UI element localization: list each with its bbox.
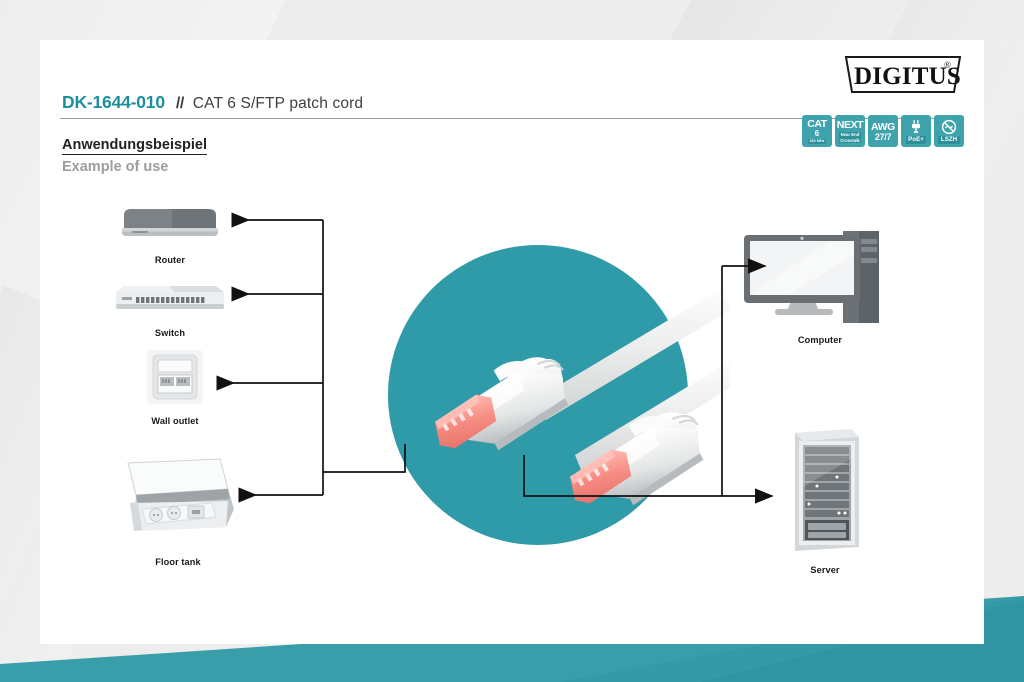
cat6-badge-main: CAT — [807, 119, 827, 130]
title-separator: // — [176, 95, 184, 113]
plug-icon — [908, 119, 924, 135]
no-smoke-icon — [941, 119, 957, 135]
cat6-badge-sub: 6 — [815, 130, 819, 138]
section-heading-de: Anwendungsbeispiel — [62, 138, 207, 155]
cat6-badge-frequency: 250 MHz — [808, 139, 826, 144]
awg-badge-main: AWG — [871, 122, 895, 133]
screenshot-root: DIGITUS ® DK-1644-010 // CAT 6 S/FTP pat… — [0, 0, 1024, 682]
patch-cord-image — [370, 230, 730, 560]
cat6-badge: CAT 6 250 MHz — [802, 115, 832, 147]
digitus-logo: DIGITUS ® — [844, 54, 962, 95]
lszh-badge-label: LSZH — [938, 136, 959, 144]
next-badge-main: NEXT — [837, 120, 863, 131]
wall-outlet-label: Wall outlet — [120, 416, 230, 426]
awg-badge: AWG 27/7 — [868, 115, 898, 147]
computer-label: Computer — [740, 335, 900, 345]
product-name: CAT 6 S/FTP patch cord — [193, 95, 363, 113]
lszh-badge: LSZH — [934, 115, 964, 147]
awg-badge-value: 27/7 — [875, 133, 891, 142]
device-floor-tank: Floor tank — [108, 455, 248, 567]
poe-badge-label: PoE+ — [906, 136, 927, 144]
floor-tank-icon — [108, 455, 248, 547]
poe-badge: PoE+ — [901, 115, 931, 147]
router-icon — [110, 205, 230, 245]
router-label: Router — [110, 255, 230, 265]
server-label: Server — [765, 565, 885, 575]
device-computer: Computer — [740, 225, 900, 345]
device-router: Router — [110, 205, 230, 265]
next-badge-line2: Crosstalk — [840, 138, 860, 143]
switch-label: Switch — [110, 328, 230, 338]
next-badge: NEXT Near End Crosstalk — [835, 115, 865, 147]
feature-badges: CAT 6 250 MHz NEXT Near End Crosstalk AW… — [802, 115, 964, 147]
server-icon — [765, 425, 885, 555]
floor-tank-label: Floor tank — [108, 557, 248, 567]
product-sku: DK-1644-010 — [62, 92, 165, 113]
next-badge-desc: Near End Crosstalk — [839, 132, 862, 144]
device-wall-outlet: Wall outlet — [120, 348, 230, 426]
content-card: DIGITUS ® DK-1644-010 // CAT 6 S/FTP pat… — [40, 40, 984, 644]
wall-outlet-icon — [120, 348, 230, 406]
registered-mark: ® — [944, 60, 951, 70]
switch-icon — [110, 278, 230, 318]
device-server: Server — [765, 425, 885, 575]
device-switch: Switch — [110, 278, 230, 338]
page-title: DK-1644-010 // CAT 6 S/FTP patch cord — [62, 92, 363, 113]
section-heading-en: Example of use — [62, 160, 168, 175]
computer-icon — [740, 225, 900, 325]
